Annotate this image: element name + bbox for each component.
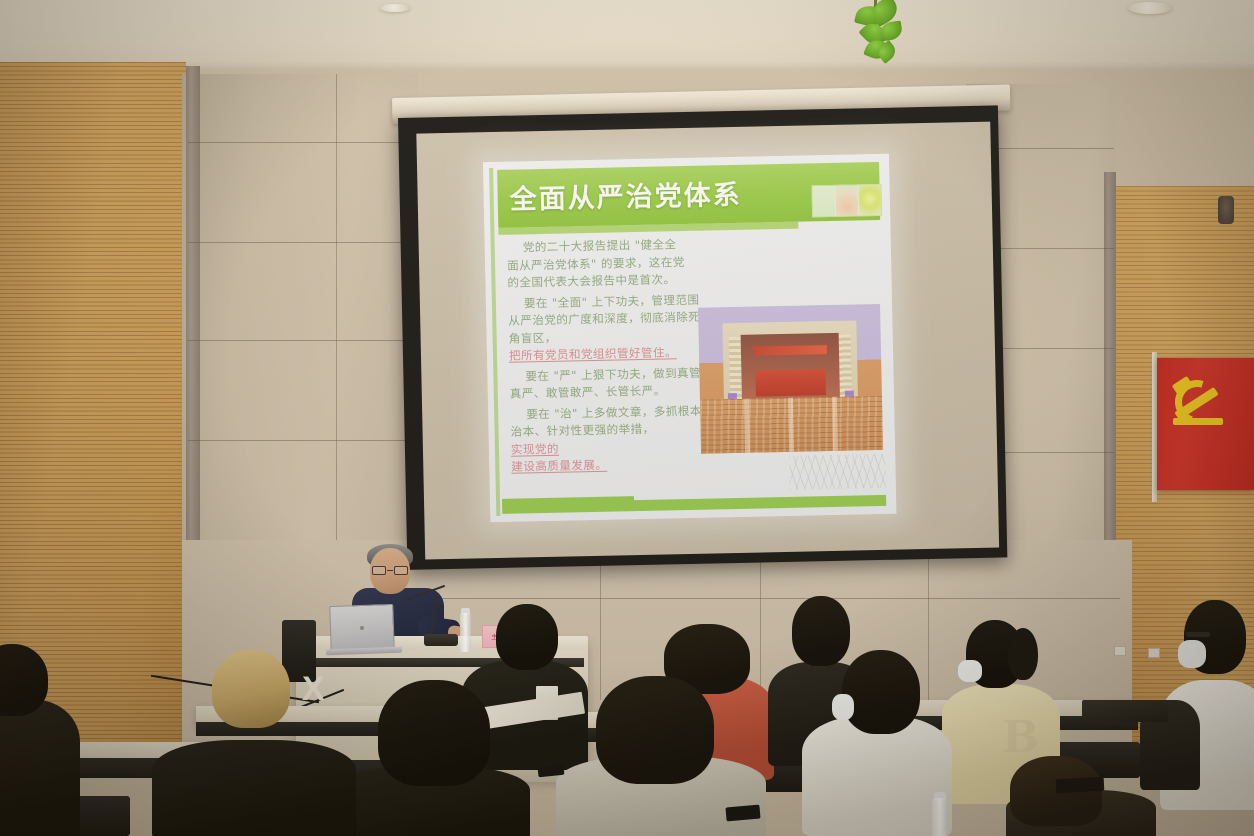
slide-bullet-list: 党的二十大报告提出 "健全全 面从严治党体系" 的要求，这在党 的全国代表大会报… [507, 235, 726, 479]
wall-seam-l4 [188, 440, 420, 441]
a9-glasses-arm [1186, 632, 1210, 637]
water-bottle-podium [460, 613, 471, 652]
slide-bullet-2: 要在 "全面" 上下功夫，管理范围 从严治党的广度和深度，彻底消除死 角盲区， … [508, 291, 723, 365]
projection-screen[interactable]: 全面从严治党体系 党的二十大报告提出 "健全全 面从严治党体系" 的要求，这在党… [398, 105, 1007, 569]
slide-decor-grass [789, 454, 886, 490]
bullet-4-highlight-2: 建设高质量发展。 [511, 454, 725, 476]
thumb-tile-2 [836, 185, 859, 215]
wall-vseam-low2 [760, 540, 761, 700]
glasses-lens-right [394, 566, 408, 575]
a4-face-mask [832, 694, 854, 720]
a6-head [792, 596, 850, 666]
lecture-hall-photo: 全面从严治党体系 党的二十大报告提出 "健全全 面从严治党体系" 的要求，这在党… [0, 0, 1254, 836]
a4-head [842, 650, 920, 734]
a3-head [496, 604, 558, 670]
hall-aisle-1 [744, 399, 750, 453]
a9-face-mask [1178, 640, 1206, 668]
thumb-tile-3 [859, 185, 882, 215]
chair-x-brace-1: X [302, 672, 325, 706]
laptop-audience[interactable] [1082, 700, 1168, 722]
wall-speaker-icon [1218, 196, 1234, 224]
a8-face-mask [958, 660, 982, 682]
slide-photo-great-hall [698, 304, 883, 454]
slide-corner-thumbnail [812, 184, 883, 217]
hall-aisle-2 [788, 398, 794, 452]
wall-seam-l1 [188, 142, 420, 143]
slide-bullet-3: 要在 "严" 上狠下功夫，做到真管 真严、敢管敢严、长管长严。 [509, 364, 724, 403]
laptop-screen[interactable] [329, 604, 395, 652]
wall-outlet-2[interactable] [1148, 648, 1160, 658]
bullet-3-line-2: 真严、敢管敢严、长管长严。 [510, 381, 724, 403]
hall-aisle-3 [832, 397, 838, 451]
a2-head [212, 650, 290, 728]
glasses-bridge [387, 570, 393, 571]
hall-banner [753, 345, 828, 356]
wall-seam-l2 [188, 242, 420, 243]
bullet-1-line-3: 的全国代表大会报告中是首次。 [507, 270, 721, 292]
projected-slide: 全面从严治党体系 党的二十大报告提出 "健全全 面从严治党体系" 的要求，这在党… [483, 154, 896, 522]
slide-bullet-1: 党的二十大报告提出 "健全全 面从严治党体系" 的要求，这在党 的全国代表大会报… [507, 235, 722, 292]
wall-seam-low1 [420, 598, 1120, 599]
thumb-tile-1 [813, 186, 836, 216]
wall-vseam-low3 [928, 540, 929, 710]
a4-body [802, 716, 952, 836]
microphone-base[interactable] [424, 634, 458, 646]
slide-bullet-4: 要在 "治" 上多做文章，多抓根本 治本、针对性更强的举措， 实现党的 建设高质… [510, 402, 725, 476]
a0-body [0, 700, 80, 836]
phone-on-desk-2[interactable] [1056, 777, 1105, 793]
hall-facade [722, 320, 858, 401]
a2-body [152, 740, 356, 836]
laptop-logo-icon [360, 626, 364, 630]
hall-rostrum [755, 369, 826, 396]
slide-canvas: 全面从严治党体系 党的二十大报告提出 "健全全 面从严治党体系" 的要求，这在党… [483, 154, 896, 522]
glasses-lens-left [372, 566, 386, 575]
hall-stage-wall [741, 333, 840, 401]
sickle-base-icon [1173, 418, 1223, 425]
cpc-party-flag [1157, 358, 1254, 490]
a7-head [596, 676, 714, 784]
wall-seam-l3 [188, 340, 420, 341]
slide-title: 全面从严治党体系 [509, 173, 742, 217]
a1-head [378, 680, 490, 786]
ceiling-light-1 [1128, 2, 1172, 14]
water-bottle-audience [932, 798, 948, 836]
hall-seating [700, 396, 883, 454]
a8-sweater-logo: B [1002, 716, 1039, 760]
bullet-2-highlight: 把所有党员和党组织管好管住。 [509, 343, 723, 365]
glasses-icon [371, 566, 409, 575]
a8-ponytail [1008, 628, 1038, 680]
wall-outlet-1[interactable] [1114, 646, 1126, 656]
phone-on-desk-1[interactable] [725, 805, 760, 822]
ceiling-light-2 [380, 4, 410, 12]
